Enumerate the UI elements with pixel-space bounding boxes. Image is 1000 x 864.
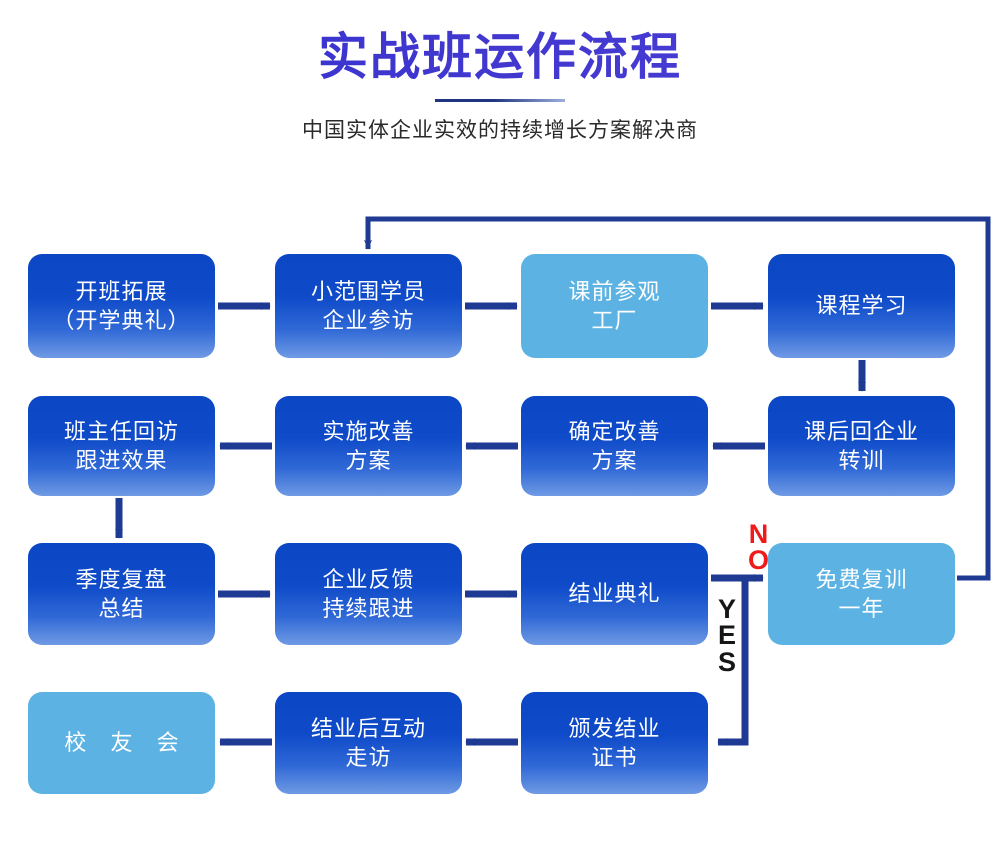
flow-node-label: 课程学习 [815,291,907,320]
flow-node-n9[interactable]: 季度复盘 总结 [28,543,215,645]
flow-node-n3[interactable]: 课前参观 工厂 [521,254,708,358]
branch-label-no: N O [748,521,769,574]
flow-node-label: 校 友 会 [55,728,187,757]
flow-node-label: 实施改善 方案 [322,417,414,475]
flow-node-n14[interactable]: 结业后互动 走访 [275,692,462,794]
flow-node-n11[interactable]: 结业典礼 [521,543,708,645]
flow-node-label: 开班拓展 （开学典礼） [52,277,190,335]
flow-node-label: 小范围学员 企业参访 [311,277,426,335]
flow-node-n1[interactable]: 开班拓展 （开学典礼） [28,254,215,358]
flow-node-n7[interactable]: 确定改善 方案 [521,396,708,496]
flow-node-label: 班主任回访 跟进效果 [64,417,179,475]
flow-node-label: 课前参观 工厂 [568,277,660,335]
flow-node-n2[interactable]: 小范围学员 企业参访 [275,254,462,358]
flow-node-label: 企业反馈 持续跟进 [322,565,414,623]
flow-node-label: 免费复训 一年 [815,565,907,623]
flowchart: 开班拓展 （开学典礼）小范围学员 企业参访课前参观 工厂课程学习班主任回访 跟进… [0,0,1000,864]
flow-node-n8[interactable]: 课后回企业 转训 [768,396,955,496]
flow-node-n15[interactable]: 颁发结业 证书 [521,692,708,794]
branch-label-yes: Y E S [718,596,736,675]
flow-node-label: 结业典礼 [568,579,660,608]
flow-node-n10[interactable]: 企业反馈 持续跟进 [275,543,462,645]
flow-node-label: 课后回企业 转训 [804,417,919,475]
flow-node-label: 颁发结业 证书 [568,714,660,772]
flow-node-n5[interactable]: 班主任回访 跟进效果 [28,396,215,496]
flow-node-label: 结业后互动 走访 [311,714,426,772]
flow-node-label: 确定改善 方案 [568,417,660,475]
flow-node-n13[interactable]: 校 友 会 [28,692,215,794]
flow-node-label: 季度复盘 总结 [75,565,167,623]
flow-node-n4[interactable]: 课程学习 [768,254,955,358]
flow-node-n12[interactable]: 免费复训 一年 [768,543,955,645]
flow-node-n6[interactable]: 实施改善 方案 [275,396,462,496]
